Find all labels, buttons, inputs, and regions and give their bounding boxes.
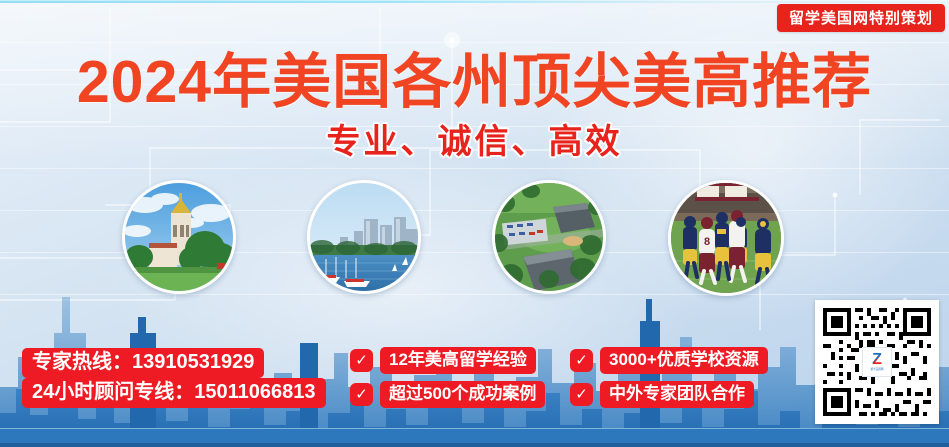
football-game-photo: 8	[668, 180, 784, 296]
qr-logo-letter: Z	[872, 352, 882, 368]
feature-label-4: 中外专家团队合作	[600, 381, 754, 408]
qr-logo-caption: 留学美国网	[871, 369, 884, 372]
feature-item-3: ✓ 3000+优质学校资源	[570, 347, 768, 374]
feature-item-1: ✓ 12年美高留学经验	[350, 347, 536, 374]
bottom-rule	[0, 443, 949, 447]
feature-label-3: 3000+优质学校资源	[600, 347, 768, 374]
contact-hotline-label: 专家热线：13910531929	[22, 348, 264, 378]
feature-item-4: ✓ 中外专家团队合作	[570, 381, 754, 408]
feature-label-1: 12年美高留学经验	[380, 347, 536, 374]
page-subtitle: 专业、诚信、高效	[0, 114, 949, 163]
check-icon: ✓	[350, 349, 373, 372]
campus-tower-photo	[122, 180, 236, 294]
special-feature-badge: 留学美国网特别策划	[777, 4, 945, 32]
check-icon: ✓	[570, 383, 593, 406]
qr-code[interactable]: Z 留学美国网	[815, 300, 939, 424]
promo-banner: 留学美国网特别策划 2024年美国各州顶尖美高推荐 专业、诚信、高效	[0, 0, 949, 447]
page-title: 2024年美国各州顶尖美高推荐	[0, 34, 949, 119]
feature-item-2: ✓ 超过500个成功案例	[350, 381, 545, 408]
city-waterfront-photo	[307, 180, 421, 294]
aerial-campus-photo	[492, 180, 606, 294]
check-icon: ✓	[350, 383, 373, 406]
svg-text:8: 8	[704, 236, 710, 248]
contact-advisor-label: 24小时顾问专线：15011066813	[22, 378, 326, 408]
feature-label-2: 超过500个成功案例	[380, 381, 545, 408]
check-icon: ✓	[570, 349, 593, 372]
qr-center-logo: Z 留学美国网	[862, 347, 892, 377]
contact-advisor-line: 24小时顾问专线：15011066813	[22, 378, 326, 408]
contact-hotline: 专家热线：13910531929	[22, 348, 264, 378]
